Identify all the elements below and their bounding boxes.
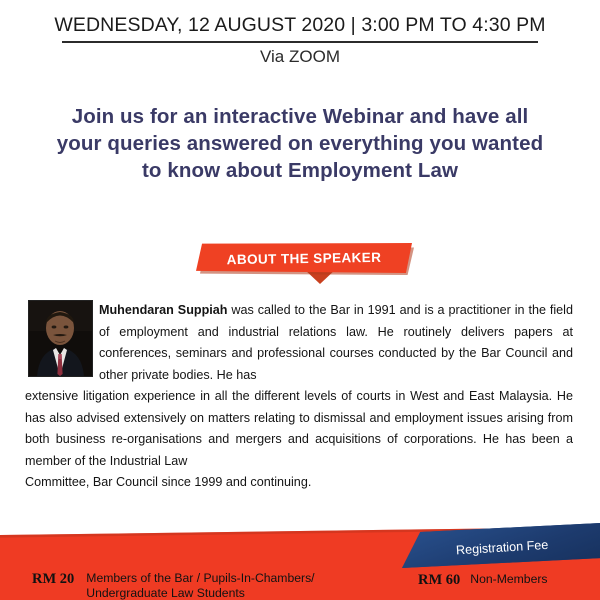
speaker-bio-part-3: Committee, Bar Council since 1999 and co… — [25, 472, 573, 494]
registration-banner-label: Registration Fee — [403, 519, 600, 576]
headline-line-2: your queries answered on everything you … — [40, 130, 560, 157]
fee-description-non-members-line-1: Non-Members — [470, 572, 547, 587]
speaker-bio-continued: extensive litigation experience in all t… — [25, 386, 573, 494]
about-the-speaker-ribbon: ABOUT THE SPEAKER — [196, 243, 426, 289]
fee-amount-members: RM 20 — [32, 571, 74, 588]
speaker-bio-intro: Muhendaran Suppiah was called to the Bar… — [99, 300, 573, 386]
speaker-name: Muhendaran Suppiah — [99, 303, 227, 317]
fee-description-members-line-2: Undergraduate Law Students — [86, 586, 314, 600]
speaker-photo — [28, 300, 93, 377]
speaker-portrait-image — [29, 301, 92, 376]
fee-row-non-members: RM 60 Non-Members — [418, 572, 598, 589]
headline-line-1: Join us for an interactive Webinar and h… — [40, 103, 560, 130]
fee-description-non-members: Non-Members — [470, 572, 547, 587]
fee-description-members: Members of the Bar / Pupils-In-Chambers/… — [86, 571, 314, 600]
registration-fee-banner: Registration Fee — [398, 523, 600, 570]
headline-line-3: to know about Employment Law — [40, 157, 560, 184]
fee-description-members-line-1: Members of the Bar / Pupils-In-Chambers/ — [86, 571, 314, 586]
webinar-poster: WEDNESDAY, 12 AUGUST 2020 | 3:00 PM TO 4… — [0, 0, 600, 600]
header-divider — [62, 41, 538, 43]
fee-amount-non-members: RM 60 — [418, 572, 460, 589]
ribbon-label: ABOUT THE SPEAKER — [196, 241, 412, 274]
fee-row-members: RM 20 Members of the Bar / Pupils-In-Cha… — [32, 571, 372, 600]
event-platform: Via ZOOM — [0, 47, 600, 67]
page-title: Join us for an interactive Webinar and h… — [40, 103, 560, 184]
event-date-time: WEDNESDAY, 12 AUGUST 2020 | 3:00 PM TO 4… — [0, 14, 600, 37]
speaker-bio-part-2: extensive litigation experience in all t… — [25, 389, 573, 468]
